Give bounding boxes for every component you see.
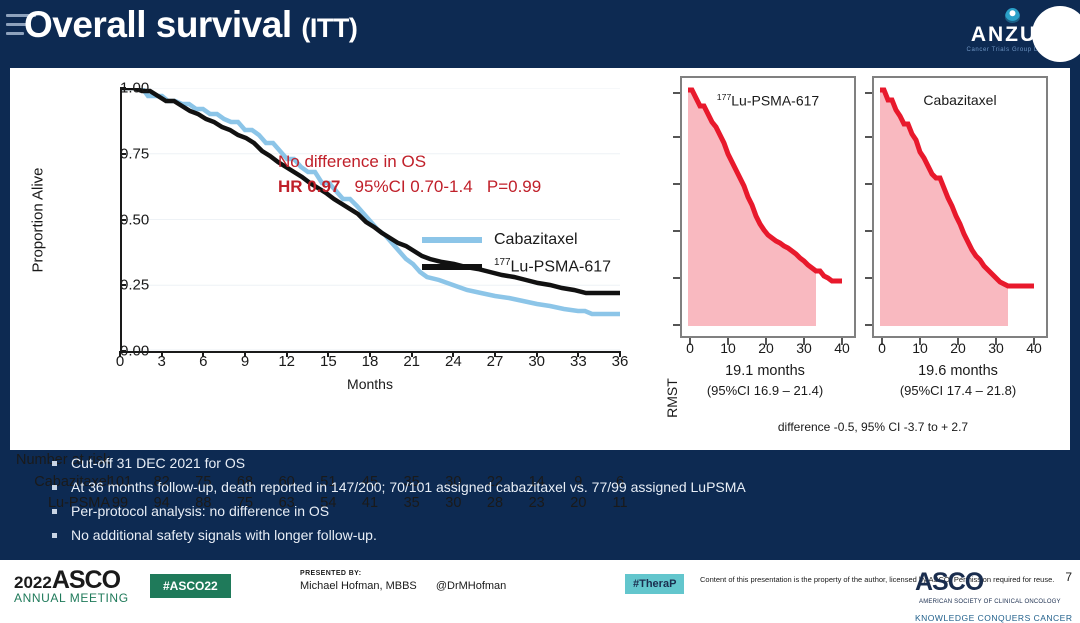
bullet-item: Cut-off 31 DEC 2021 for OS [0, 455, 1080, 471]
bullet-item: At 36 months follow-up, death reported i… [0, 479, 1080, 495]
km-x-tick-mark [119, 351, 121, 357]
bullet-marker-icon [52, 461, 57, 466]
page-title-sub: (ITT) [301, 13, 357, 43]
bullet-item: Per-protocol analysis: no difference in … [0, 503, 1080, 519]
hazard-ratio-value: HR 0.97 [278, 177, 340, 196]
km-x-tick-mark [494, 351, 496, 357]
km-x-tick-mark [202, 351, 204, 357]
km-x-tick-mark [327, 351, 329, 357]
rmst-panel-title-lupsma: 177Lu-PSMA-617 [682, 92, 854, 109]
presenter-name: Michael Hofman, MBBS [300, 580, 417, 592]
rmst-difference: difference -0.5, 95% CI -3.7 to + 2.7 [688, 420, 1058, 434]
presenter-name-row: Michael Hofman, MBBS @DrMHofman [300, 580, 506, 592]
legend-swatch-cabazitaxel [422, 237, 482, 243]
km-y-axis-label: Proportion Alive [30, 167, 47, 272]
legend-item-lupsma: 177Lu-PSMA-617 [422, 253, 611, 280]
anzup-mark-icon [1005, 8, 1020, 23]
rmst-ci-cabazitaxel: (95%CI 17.4 – 21.8) [863, 382, 1053, 400]
km-x-tick-mark [286, 351, 288, 357]
km-y-tick-mark [120, 284, 126, 286]
chart-canvas: Proportion Alive 0.000.250.500.751.00 03… [10, 68, 1070, 450]
confidence-interval: 95%CI 0.70-1.4 [355, 177, 473, 196]
km-x-tick-mark [369, 351, 371, 357]
rmst-x-tick-label: 20 [758, 340, 774, 356]
rmst-x-tick-label: 40 [1026, 340, 1042, 356]
page-number: 7 [1065, 570, 1072, 584]
rmst-panel-lupsma: 177Lu-PSMA-617 [680, 76, 856, 338]
km-x-tick-mark [411, 351, 413, 357]
rmst-ci-lupsma: (95%CI 16.9 – 21.4) [670, 382, 860, 400]
bullet-text: No additional safety signals with longer… [71, 527, 377, 543]
km-legend: Cabazitaxel 177Lu-PSMA-617 [422, 226, 611, 280]
bullet-marker-icon [52, 533, 57, 538]
km-curves [120, 88, 620, 351]
header-circle-decoration [1032, 6, 1080, 62]
km-survival-chart: Proportion Alive 0.000.250.500.751.00 03… [10, 68, 658, 450]
meeting-brand: ASCO [52, 566, 120, 594]
annotation-line-1: No difference in OS [278, 150, 541, 175]
asco-meeting-logo: 2022ASCO ANNUAL MEETING [14, 566, 129, 605]
meeting-subtitle: ANNUAL MEETING [14, 591, 129, 605]
p-value: P=0.99 [487, 177, 541, 196]
presented-by-label: PRESENTED BY: [300, 570, 506, 577]
legend-label-lupsma: 177Lu-PSMA-617 [494, 257, 611, 276]
slide-header: Overall survival (ITT) ANZUP Cancer Tria… [0, 0, 1080, 68]
summary-bullets: Cut-off 31 DEC 2021 for OSAt 36 months f… [0, 455, 1080, 555]
legend-item-cabazitaxel: Cabazitaxel [422, 226, 611, 253]
km-x-tick-mark [161, 351, 163, 357]
km-x-tick-mark [577, 351, 579, 357]
asco-org-logo: ASCOAMERICAN SOCIETY OF CLINICAL ONCOLOG… [915, 568, 1080, 623]
presenter-handle: @DrMHofman [436, 580, 506, 592]
rmst-x-tick-label: 0 [878, 340, 886, 356]
km-plot-area [120, 88, 620, 351]
rmst-months-cabazitaxel: 19.6 months [863, 362, 1053, 382]
bullet-marker-icon [52, 485, 57, 490]
rmst-x-tick-label: 40 [834, 340, 850, 356]
slide-footer: 2022ASCO ANNUAL MEETING #ASCO22 PRESENTE… [0, 560, 1080, 608]
km-x-tick-mark [244, 351, 246, 357]
km-x-tick-mark [452, 351, 454, 357]
rmst-x-tick-label: 30 [796, 340, 812, 356]
rmst-x-tick-label: 10 [912, 340, 928, 356]
asco-slogan: KNOWLEDGE CONQUERS CANCER [915, 613, 1080, 623]
rmst-panel-cabazitaxel: Cabazitaxel [872, 76, 1048, 338]
km-y-tick-mark [120, 219, 126, 221]
km-y-tick-mark [120, 87, 126, 89]
km-x-tick-mark [619, 351, 621, 357]
presenter-block: PRESENTED BY: Michael Hofman, MBBS @DrMH… [300, 570, 506, 592]
therap-hashtag-badge: #TheraP [625, 574, 684, 594]
rmst-curve-lupsma [682, 78, 850, 332]
legend-swatch-lupsma [422, 264, 482, 270]
km-x-tick-mark [536, 351, 538, 357]
km-x-axis-label: Months [120, 376, 620, 392]
bullet-marker-icon [52, 509, 57, 514]
rmst-months-lupsma: 19.1 months [670, 362, 860, 382]
page-title: Overall survival (ITT) [24, 4, 357, 46]
rmst-x-tick-label: 0 [686, 340, 694, 356]
bullet-text: Cut-off 31 DEC 2021 for OS [71, 455, 245, 471]
page-title-main: Overall survival [24, 4, 292, 45]
rmst-curve-cabazitaxel [874, 78, 1042, 332]
km-y-tick-mark [120, 153, 126, 155]
rmst-panel-title-cabazitaxel: Cabazitaxel [874, 92, 1046, 108]
rmst-x-tick-label: 20 [950, 340, 966, 356]
rmst-value-lupsma: 19.1 months (95%CI 16.9 – 21.4) [670, 362, 860, 399]
statistics-annotation: No difference in OS HR 0.97 95%CI 0.70-1… [278, 150, 541, 199]
bullet-text: Per-protocol analysis: no difference in … [71, 503, 329, 519]
slide: Overall survival (ITT) ANZUP Cancer Tria… [0, 0, 1080, 608]
rmst-panels: 177Lu-PSMA-617 Cabazitaxel [658, 68, 1070, 450]
legend-label-cabazitaxel: Cabazitaxel [494, 231, 578, 249]
rmst-x-tick-label: 10 [720, 340, 736, 356]
asco-society-name: AMERICAN SOCIETY OF CLINICAL ONCOLOGY [919, 599, 1061, 607]
bullet-text: At 36 months follow-up, death reported i… [71, 479, 746, 495]
rmst-value-cabazitaxel: 19.6 months (95%CI 17.4 – 21.8) [863, 362, 1053, 399]
asco-wordmark: ASCO [915, 568, 983, 596]
meeting-year: 2022 [14, 573, 52, 592]
rmst-x-tick-label: 30 [988, 340, 1004, 356]
annotation-line-2: HR 0.97 95%CI 0.70-1.4 P=0.99 [278, 175, 541, 200]
asco-hashtag-badge: #ASCO22 [150, 574, 231, 598]
bullet-item: No additional safety signals with longer… [0, 527, 1080, 543]
